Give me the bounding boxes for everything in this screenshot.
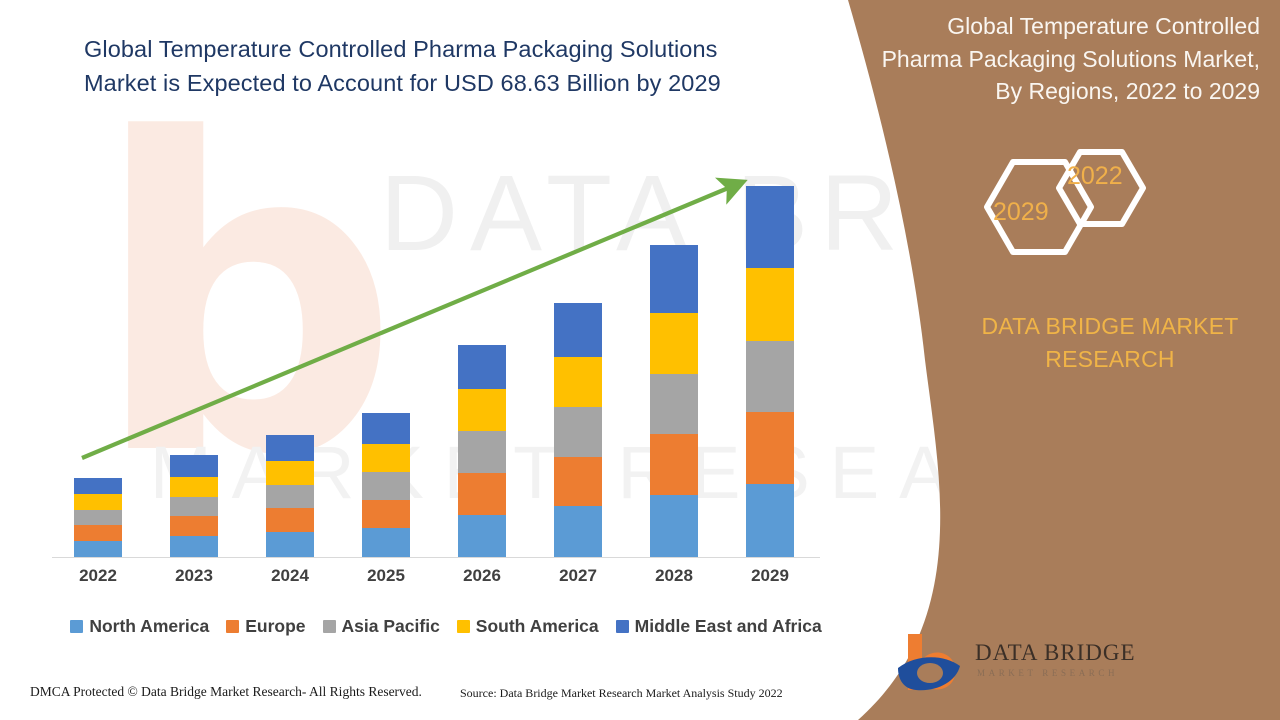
- bar-segment-north-america-2029: [746, 484, 794, 557]
- bar-segment-middle-east-and-africa-2025: [362, 413, 410, 444]
- legend-label: Asia Pacific: [342, 616, 440, 637]
- x-axis-label-2028: 2028: [626, 566, 722, 586]
- bar-segment-north-america-2027: [554, 506, 602, 557]
- hexagon-2022-label: 2022: [1067, 162, 1123, 191]
- bar-segment-asia-pacific-2026: [458, 431, 506, 473]
- bar-2026: [458, 345, 506, 557]
- x-axis-label-2026: 2026: [434, 566, 530, 586]
- bar-segment-north-america-2024: [266, 532, 314, 557]
- x-axis-label-2029: 2029: [722, 566, 818, 586]
- bar-segment-middle-east-and-africa-2022: [74, 478, 122, 494]
- bar-segment-south-america-2026: [458, 389, 506, 431]
- bar-segment-south-america-2024: [266, 461, 314, 485]
- legend-swatch-icon: [70, 620, 83, 633]
- bar-segment-north-america-2026: [458, 515, 506, 557]
- bar-segment-europe-2026: [458, 473, 506, 515]
- bar-segment-south-america-2027: [554, 357, 602, 407]
- panel-title: Global Temperature Controlled Pharma Pac…: [880, 10, 1260, 108]
- bar-segment-europe-2027: [554, 457, 602, 506]
- legend-item-south-america[interactable]: South America: [457, 616, 599, 637]
- bar-2023: [170, 455, 218, 557]
- bar-segment-middle-east-and-africa-2026: [458, 345, 506, 389]
- brand-name: DATA BRIDGE MARKET RESEARCH: [960, 310, 1260, 377]
- bar-2027: [554, 303, 602, 557]
- hexagon-2029-label: 2029: [993, 198, 1049, 227]
- legend-swatch-icon: [226, 620, 239, 633]
- bar-segment-middle-east-and-africa-2024: [266, 435, 314, 461]
- footer-source: Source: Data Bridge Market Research Mark…: [460, 686, 783, 701]
- stacked-bar-chart: 20222023202420252026202720282029: [0, 0, 860, 600]
- bar-segment-asia-pacific-2023: [170, 497, 218, 516]
- bar-segment-europe-2023: [170, 516, 218, 536]
- bar-segment-south-america-2029: [746, 268, 794, 341]
- x-axis-label-2024: 2024: [242, 566, 338, 586]
- legend-swatch-icon: [323, 620, 336, 633]
- hexagon-badges: 2029 2022: [975, 140, 1185, 275]
- bar-segment-europe-2029: [746, 412, 794, 484]
- bar-segment-north-america-2028: [650, 495, 698, 557]
- bar-segment-south-america-2028: [650, 313, 698, 374]
- bar-segment-asia-pacific-2022: [74, 510, 122, 525]
- bar-segment-north-america-2023: [170, 536, 218, 557]
- x-axis-label-2023: 2023: [146, 566, 242, 586]
- legend-label: South America: [476, 616, 599, 637]
- bar-segment-middle-east-and-africa-2029: [746, 186, 794, 268]
- logo-tagline: MARKET RESEARCH: [977, 668, 1117, 678]
- legend-label: North America: [89, 616, 209, 637]
- bar-2029: [746, 186, 794, 557]
- bar-2022: [74, 478, 122, 557]
- x-axis-line: [52, 557, 820, 558]
- bar-segment-asia-pacific-2028: [650, 374, 698, 434]
- footer-copyright: DMCA Protected © Data Bridge Market Rese…: [30, 684, 422, 700]
- legend-item-europe[interactable]: Europe: [226, 616, 305, 637]
- bar-2028: [650, 245, 698, 557]
- legend-item-middle-east-and-africa[interactable]: Middle East and Africa: [616, 616, 822, 637]
- bar-segment-asia-pacific-2027: [554, 407, 602, 457]
- legend-swatch-icon: [616, 620, 629, 633]
- legend-label: Middle East and Africa: [635, 616, 822, 637]
- bar-2024: [266, 435, 314, 557]
- growth-arrow-icon: [0, 0, 860, 600]
- bar-segment-south-america-2025: [362, 444, 410, 472]
- bar-segment-south-america-2023: [170, 477, 218, 497]
- legend-swatch-icon: [457, 620, 470, 633]
- x-axis-label-2027: 2027: [530, 566, 626, 586]
- bar-2025: [362, 413, 410, 557]
- bar-segment-middle-east-and-africa-2028: [650, 245, 698, 313]
- x-axis-label-2022: 2022: [50, 566, 146, 586]
- infographic-canvas: b DATA BRIDGE MARKET RESEARCH Global Tem…: [0, 0, 1280, 720]
- bar-segment-north-america-2022: [74, 541, 122, 557]
- bar-segment-middle-east-and-africa-2027: [554, 303, 602, 357]
- logo-wordmark: DATA BRIDGE: [975, 640, 1115, 666]
- bar-segment-south-america-2022: [74, 494, 122, 510]
- bar-segment-europe-2028: [650, 434, 698, 495]
- bar-segment-asia-pacific-2025: [362, 472, 410, 500]
- legend-item-asia-pacific[interactable]: Asia Pacific: [323, 616, 440, 637]
- chart-legend: North AmericaEuropeAsia PacificSouth Ame…: [56, 616, 836, 637]
- bar-segment-europe-2022: [74, 525, 122, 541]
- bar-segment-asia-pacific-2024: [266, 485, 314, 508]
- bar-segment-europe-2025: [362, 500, 410, 528]
- bar-segment-europe-2024: [266, 508, 314, 532]
- legend-item-north-america[interactable]: North America: [70, 616, 209, 637]
- bar-segment-middle-east-and-africa-2023: [170, 455, 218, 477]
- x-axis-label-2025: 2025: [338, 566, 434, 586]
- bar-segment-north-america-2025: [362, 528, 410, 557]
- bar-segment-asia-pacific-2029: [746, 341, 794, 412]
- legend-label: Europe: [245, 616, 305, 637]
